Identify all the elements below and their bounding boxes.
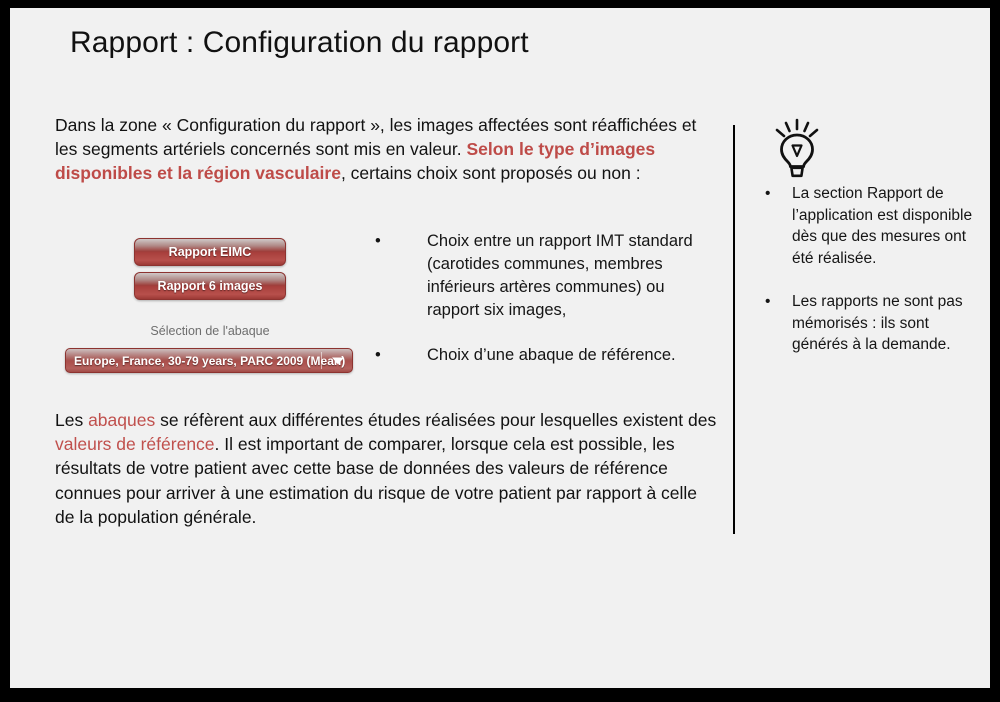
bottom-text-part1: Les bbox=[55, 410, 88, 430]
bottom-text-part2: se réfèrent aux différentes études réali… bbox=[155, 410, 716, 430]
list-item: • Les rapports ne sont pas mémorisés : i… bbox=[760, 291, 975, 356]
list-item: • Choix d’une abaque de référence. bbox=[375, 344, 695, 367]
bullet-marker: • bbox=[375, 230, 381, 253]
slide-canvas: Rapport : Configuration du rapport Dans … bbox=[10, 8, 990, 688]
intro-paragraph: Dans la zone « Configuration du rapport … bbox=[55, 113, 715, 186]
bullet-marker: • bbox=[765, 291, 770, 313]
abaque-select[interactable]: Europe, France, 30-79 years, PARC 2009 (… bbox=[65, 348, 353, 373]
chevron-down-icon[interactable] bbox=[332, 357, 344, 364]
intro-paragraph-block: Dans la zone « Configuration du rapport … bbox=[55, 113, 715, 186]
ui-mock-and-bullets: Rapport EIMC Rapport 6 images Sélection … bbox=[55, 230, 715, 390]
report-eimc-button[interactable]: Rapport EIMC bbox=[134, 238, 286, 266]
list-item: • Choix entre un rapport IMT standard (c… bbox=[375, 230, 695, 322]
report-eimc-button-label: Rapport EIMC bbox=[135, 245, 285, 259]
sidebar-bullet-list: • La section Rapport de l’application es… bbox=[760, 183, 975, 378]
page-title: Rapport : Configuration du rapport bbox=[70, 26, 529, 60]
list-item-label: La section Rapport de l’application est … bbox=[792, 185, 972, 267]
abaque-selector-label: Sélection de l'abaque bbox=[65, 324, 355, 338]
bullet-marker: • bbox=[765, 183, 770, 205]
report-6-images-button-label: Rapport 6 images bbox=[135, 279, 285, 293]
bottom-paragraph-block: Les abaques se réfèrent aux différentes … bbox=[55, 408, 720, 529]
abaque-select-separator bbox=[321, 352, 322, 369]
report-6-images-button[interactable]: Rapport 6 images bbox=[134, 272, 286, 300]
bottom-paragraph: Les abaques se réfèrent aux différentes … bbox=[55, 408, 720, 529]
bottom-text-highlight1: abaques bbox=[88, 410, 155, 430]
lightbulb-icon bbox=[768, 118, 826, 180]
abaque-select-value: Europe, France, 30-79 years, PARC 2009 (… bbox=[74, 354, 345, 368]
bullet-marker: • bbox=[375, 344, 381, 367]
intro-text-part2: , certains choix sont proposés ou non : bbox=[341, 163, 641, 183]
vertical-divider bbox=[733, 125, 735, 534]
list-item-label: Choix entre un rapport IMT standard (car… bbox=[427, 232, 693, 319]
list-item-label: Les rapports ne sont pas mémorisés : ils… bbox=[792, 293, 963, 353]
middle-bullet-list: • Choix entre un rapport IMT standard (c… bbox=[375, 230, 695, 389]
list-item: • La section Rapport de l’application es… bbox=[760, 183, 975, 269]
bottom-text-highlight2: valeurs de référence bbox=[55, 434, 215, 454]
slide-frame: Rapport : Configuration du rapport Dans … bbox=[0, 0, 1000, 702]
list-item-label: Choix d’une abaque de référence. bbox=[427, 346, 676, 364]
